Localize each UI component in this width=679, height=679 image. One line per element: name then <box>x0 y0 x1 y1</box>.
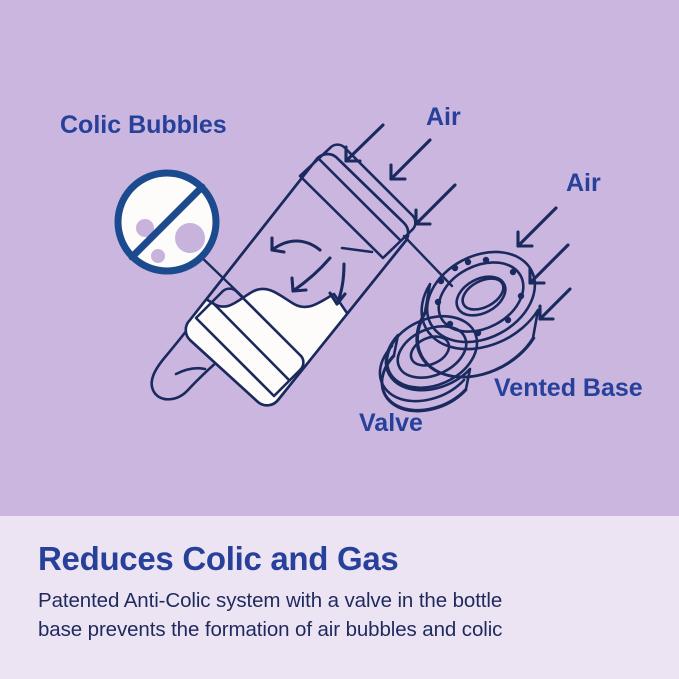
bubble-small-bottom <box>151 249 165 263</box>
illustration-panel: Colic Bubbles Air Air Valve Vented Base <box>0 0 679 516</box>
caption-title: Reduces Colic and Gas <box>38 542 641 577</box>
bubble-large <box>175 223 205 253</box>
teat-slit <box>176 368 205 374</box>
caption-body-line-1: Patented Anti-Colic system with a valve … <box>38 586 641 616</box>
valve-top-face <box>376 303 489 402</box>
label-air-right: Air <box>566 169 601 197</box>
label-colic-bubbles: Colic Bubbles <box>60 111 227 139</box>
air-arrow-group-top <box>346 125 455 224</box>
label-air-top: Air <box>426 103 461 131</box>
label-valve: Valve <box>359 409 423 437</box>
label-vented-base: Vented Base <box>494 374 643 402</box>
caption-body-line-2: base prevents the formation of air bubbl… <box>38 615 641 645</box>
valve-ring <box>376 303 489 411</box>
caption-panel: Reduces Colic and Gas Patented Anti-Coli… <box>0 516 679 679</box>
anti-colic-bottle-diagram: Colic Bubbles Air Air Valve Vented Base <box>0 0 679 516</box>
vented-base-leader-line <box>404 236 452 286</box>
vented-base-disc <box>404 234 551 377</box>
badge-bubbles-scene <box>112 200 222 276</box>
infographic-card: Colic Bubbles Air Air Valve Vented Base … <box>0 0 679 679</box>
vented-base-center-hole <box>450 269 512 323</box>
external-air-arrows <box>346 125 570 319</box>
